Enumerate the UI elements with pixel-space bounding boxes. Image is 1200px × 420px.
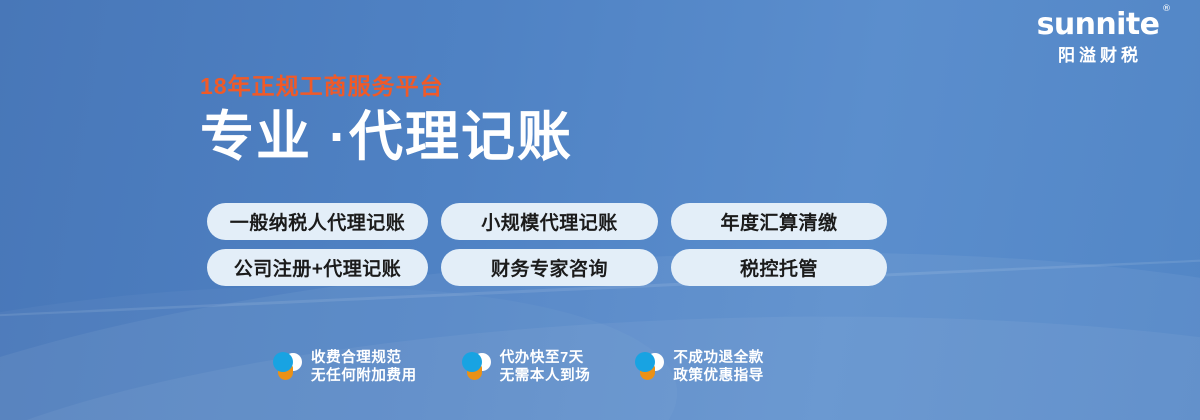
coin-cup-icon: [461, 350, 491, 384]
hero-text-block: 18年正规工商服务平台 专业 ·代理记账: [200, 74, 573, 168]
feature-item-pricing-text: 收费合理规范 无任何附加费用: [311, 349, 417, 385]
feature-item-pricing-line1: 收费合理规范: [311, 349, 417, 367]
service-pill-annual-settlement[interactable]: 年度汇算清缴: [671, 203, 887, 240]
feature-item-pricing-line2: 无任何附加费用: [311, 367, 417, 385]
brand-logo-chinese-name: 阳溢财税: [1014, 47, 1182, 64]
feature-item-pricing: 收费合理规范 无任何附加费用: [272, 349, 417, 385]
feature-item-speed-line1: 代办快至7天: [500, 349, 591, 367]
coin-cup-icon: [634, 350, 664, 384]
brand-logo[interactable]: sunnite® 阳溢财税: [1014, 10, 1182, 64]
service-pill-groups: 一般纳税人代理记账 小规模代理记账 年度汇算清缴 公司注册+代理记账 财务专家咨…: [207, 203, 887, 295]
service-pill-small-scale-bookkeeping[interactable]: 小规模代理记账: [441, 203, 658, 240]
feature-item-guarantee-text: 不成功退全款 政策优惠指导: [673, 349, 764, 385]
hero-eyebrow: 18年正规工商服务平台: [200, 74, 573, 99]
feature-item-guarantee-line2: 政策优惠指导: [673, 367, 764, 385]
registered-trademark-icon: ®: [1162, 5, 1170, 14]
hero-headline: 专业 ·代理记账: [200, 107, 573, 167]
service-pill-financial-expert-consulting[interactable]: 财务专家咨询: [441, 249, 658, 286]
feature-item-speed-line2: 无需本人到场: [500, 367, 591, 385]
brand-logo-wordmark: sunnite®: [1037, 10, 1160, 40]
feature-item-guarantee-line1: 不成功退全款: [673, 349, 764, 367]
service-pill-row-2: 公司注册+代理记账 财务专家咨询 税控托管: [207, 249, 887, 286]
coin-cup-icon: [272, 350, 302, 384]
service-pill-general-taxpayer-bookkeeping[interactable]: 一般纳税人代理记账: [207, 203, 428, 240]
service-pill-company-registration-bookkeeping[interactable]: 公司注册+代理记账: [207, 249, 428, 286]
feature-item-guarantee: 不成功退全款 政策优惠指导: [634, 349, 764, 385]
feature-highlights: 收费合理规范 无任何附加费用 代办快至7天 无需本人到场 不成功退全款: [272, 349, 764, 385]
feature-item-speed: 代办快至7天 无需本人到场: [461, 349, 591, 385]
service-pill-row-1: 一般纳税人代理记账 小规模代理记账 年度汇算清缴: [207, 203, 887, 240]
service-pill-tax-control-custody[interactable]: 税控托管: [671, 249, 887, 286]
promo-banner: sunnite® 阳溢财税 18年正规工商服务平台 专业 ·代理记账 一般纳税人…: [0, 0, 1200, 420]
feature-item-speed-text: 代办快至7天 无需本人到场: [500, 349, 591, 385]
